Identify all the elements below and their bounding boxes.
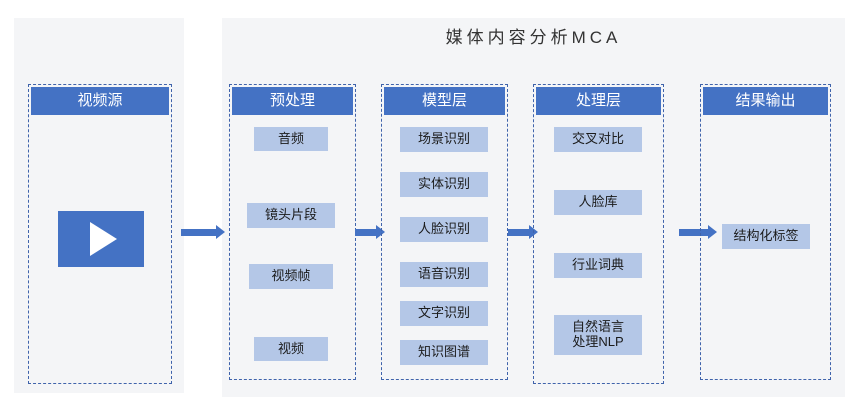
arrow-source-to-preprocessing xyxy=(181,225,225,239)
chip-preprocessing-1[interactable]: 镜头片段 xyxy=(247,203,335,228)
column-model-layer: 模型层 场景识别 实体识别 人脸识别 语音识别 文字识别 知识图谱 xyxy=(381,84,508,380)
column-result-output: 结果输出 结构化标签 xyxy=(700,84,831,380)
chip-model-0[interactable]: 场景识别 xyxy=(400,127,488,152)
chip-model-2[interactable]: 人脸识别 xyxy=(400,217,488,242)
chip-model-5[interactable]: 知识图谱 xyxy=(400,340,488,365)
page-title: 媒体内容分析MCA xyxy=(222,18,845,58)
chip-model-4[interactable]: 文字识别 xyxy=(400,301,488,326)
column-processing-layer: 处理层 交叉对比 人脸库 行业词典 自然语言 处理NLP xyxy=(533,84,664,384)
arrow-shaft xyxy=(355,229,376,236)
column-header-processing-layer: 处理层 xyxy=(536,87,661,115)
diagram-canvas: 媒体内容分析MCA 视频源 预处理 音频 镜头片段 视频帧 视频 模型层 场景识… xyxy=(0,0,859,411)
arrow-shaft xyxy=(508,229,529,236)
column-header-model-layer: 模型层 xyxy=(384,87,505,115)
column-video-source: 视频源 xyxy=(28,84,172,384)
column-header-video-source: 视频源 xyxy=(31,87,169,115)
chip-model-1[interactable]: 实体识别 xyxy=(400,172,488,197)
chip-processing-2[interactable]: 行业词典 xyxy=(554,253,642,278)
column-preprocessing: 预处理 音频 镜头片段 视频帧 视频 xyxy=(229,84,356,380)
chip-processing-0[interactable]: 交叉对比 xyxy=(554,127,642,152)
chip-processing-1[interactable]: 人脸库 xyxy=(554,190,642,215)
column-header-preprocessing: 预处理 xyxy=(232,87,353,115)
arrow-shaft xyxy=(181,229,216,236)
play-icon[interactable] xyxy=(58,211,144,267)
chip-model-3[interactable]: 语音识别 xyxy=(400,262,488,287)
chip-preprocessing-0[interactable]: 音频 xyxy=(254,127,328,151)
arrow-head xyxy=(216,225,225,239)
chip-processing-3[interactable]: 自然语言 处理NLP xyxy=(554,315,642,355)
chip-preprocessing-3[interactable]: 视频 xyxy=(254,337,328,361)
chip-preprocessing-2[interactable]: 视频帧 xyxy=(249,264,333,289)
column-header-result-output: 结果输出 xyxy=(703,87,828,115)
play-triangle-glyph xyxy=(90,222,117,256)
chip-output-0[interactable]: 结构化标签 xyxy=(722,224,810,249)
